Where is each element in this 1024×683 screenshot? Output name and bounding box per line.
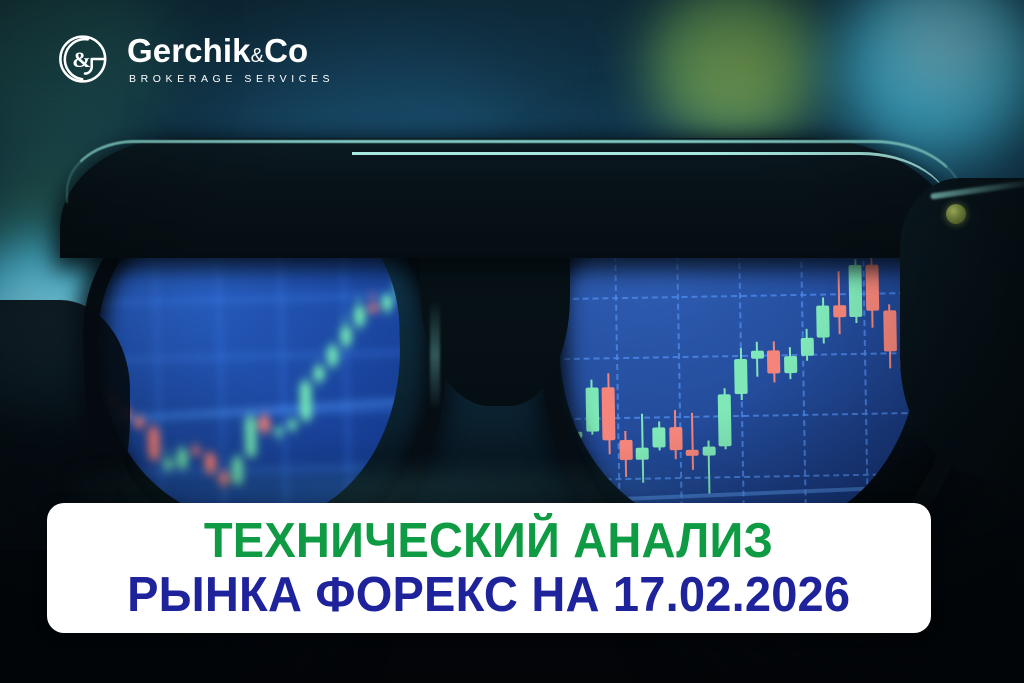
brand-logo[interactable]: & Gerchik&Co BROKERAGE SERVICES (57, 31, 334, 87)
svg-text:&: & (72, 47, 91, 72)
brand-ampersand: & (251, 45, 264, 67)
brand-name-suffix: Co (264, 32, 308, 69)
brand-name: Gerchik&Co (127, 34, 334, 67)
banner-image: & Gerchik&Co BROKERAGE SERVICES ТЕХНИЧЕС… (0, 0, 1024, 683)
brand-name-main: Gerchik (127, 32, 251, 69)
brand-wordmark: Gerchik&Co BROKERAGE SERVICES (127, 34, 334, 85)
title-line-2: РЫНКА ФОРЕКС НА 17.02.2026 (127, 570, 850, 621)
brand-tagline: BROKERAGE SERVICES (129, 74, 334, 85)
title-banner: ТЕХНИЧЕСКИЙ АНАЛИЗ РЫНКА ФОРЕКС НА 17.02… (47, 503, 931, 633)
gerchik-ampersand-g-monogram-icon: & (57, 31, 113, 87)
title-line-1: ТЕХНИЧЕСКИЙ АНАЛИЗ (204, 516, 773, 567)
